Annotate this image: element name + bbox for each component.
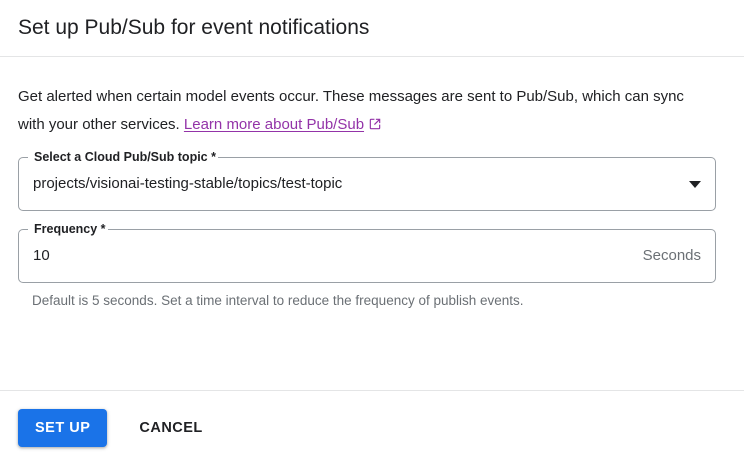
dialog-header: Set up Pub/Sub for event notifications [0, 0, 744, 57]
topic-select-value: projects/visionai-testing-stable/topics/… [33, 174, 679, 194]
frequency-field[interactable]: Frequency * 10 Seconds Default is 5 seco… [18, 229, 716, 310]
chevron-down-icon[interactable] [689, 181, 701, 188]
frequency-unit-suffix: Seconds [643, 246, 701, 266]
intro-paragraph: Get alerted when certain model events oc… [18, 83, 690, 139]
frequency-hint-text: Default is 5 seconds. Set a time interva… [32, 292, 716, 310]
frequency-input-value[interactable]: 10 [33, 246, 635, 266]
frequency-field-label: Frequency * [32, 221, 108, 237]
topic-field-label: Select a Cloud Pub/Sub topic * [32, 149, 218, 165]
open-in-new-icon[interactable] [368, 117, 382, 131]
topic-field[interactable]: Select a Cloud Pub/Sub topic * projects/… [18, 157, 716, 211]
set-up-button[interactable]: SET UP [18, 409, 107, 447]
learn-more-link[interactable]: Learn more about Pub/Sub [184, 116, 364, 133]
dialog-body: Get alerted when certain model events oc… [0, 57, 744, 390]
topic-select[interactable]: projects/visionai-testing-stable/topics/… [18, 157, 716, 211]
dialog-footer: SET UP CANCEL [0, 390, 744, 464]
pubsub-setup-dialog: Set up Pub/Sub for event notifications G… [0, 0, 744, 464]
frequency-input[interactable]: 10 Seconds [18, 229, 716, 283]
cancel-button[interactable]: CANCEL [129, 409, 212, 447]
page-title: Set up Pub/Sub for event notifications [18, 15, 369, 41]
